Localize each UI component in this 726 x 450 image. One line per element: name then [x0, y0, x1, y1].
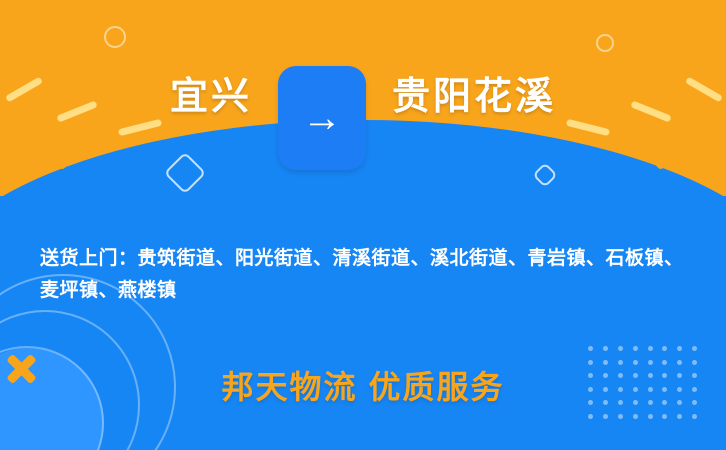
delivery-coverage-text: 送货上门：贵筑街道、阳光街道、清溪街道、溪北街道、青岩镇、石板镇、麦坪镇、燕楼镇 — [40, 243, 700, 307]
ring-decoration-icon — [104, 26, 126, 48]
origin-city: 宜兴 — [170, 66, 252, 128]
logistics-banner: 宜兴 → 贵阳花溪 送货上门：贵筑街道、阳光街道、清溪街道、溪北街道、青岩镇、石… — [0, 0, 726, 450]
arrow-right-icon: → — [302, 98, 342, 138]
ring-decoration-icon — [596, 34, 614, 52]
route-arrow-box: → — [278, 66, 366, 170]
route-header: 宜兴 → 贵阳花溪 — [0, 66, 726, 176]
destination-city: 贵阳花溪 — [392, 66, 556, 128]
cross-sparkle-icon — [8, 352, 34, 378]
dot-grid-decoration — [588, 346, 704, 424]
